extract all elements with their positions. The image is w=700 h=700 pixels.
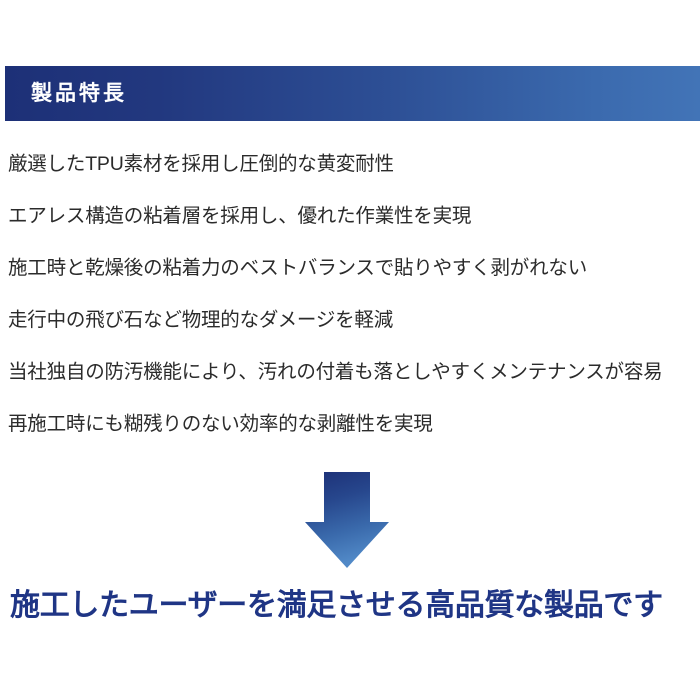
- feature-item: 当社独自の防汚機能により、汚れの付着も落としやすくメンテナンスが容易: [8, 346, 698, 398]
- feature-list: 厳選したTPU素材を採用し圧倒的な黄変耐性 エアレス構造の粘着層を採用し、優れた…: [8, 138, 698, 450]
- product-features-panel: 製品特長 厳選したTPU素材を採用し圧倒的な黄変耐性 エアレス構造の粘着層を採用…: [0, 0, 700, 700]
- feature-item: 厳選したTPU素材を採用し圧倒的な黄変耐性: [8, 138, 698, 190]
- feature-item: 走行中の飛び石など物理的なダメージを軽減: [8, 294, 698, 346]
- section-header-title: 製品特長: [31, 83, 127, 104]
- feature-item: 再施工時にも糊残りのない効率的な剥離性を実現: [8, 398, 698, 450]
- conclusion-headline: 施工したユーザーを満足させる高品質な製品です: [10, 584, 700, 628]
- arrow-down-icon: [303, 471, 391, 571]
- feature-item: エアレス構造の粘着層を採用し、優れた作業性を実現: [8, 190, 698, 242]
- feature-item: 施工時と乾燥後の粘着力のベストバランスで貼りやすく剥がれない: [8, 242, 698, 294]
- section-header-bar: 製品特長: [5, 66, 700, 121]
